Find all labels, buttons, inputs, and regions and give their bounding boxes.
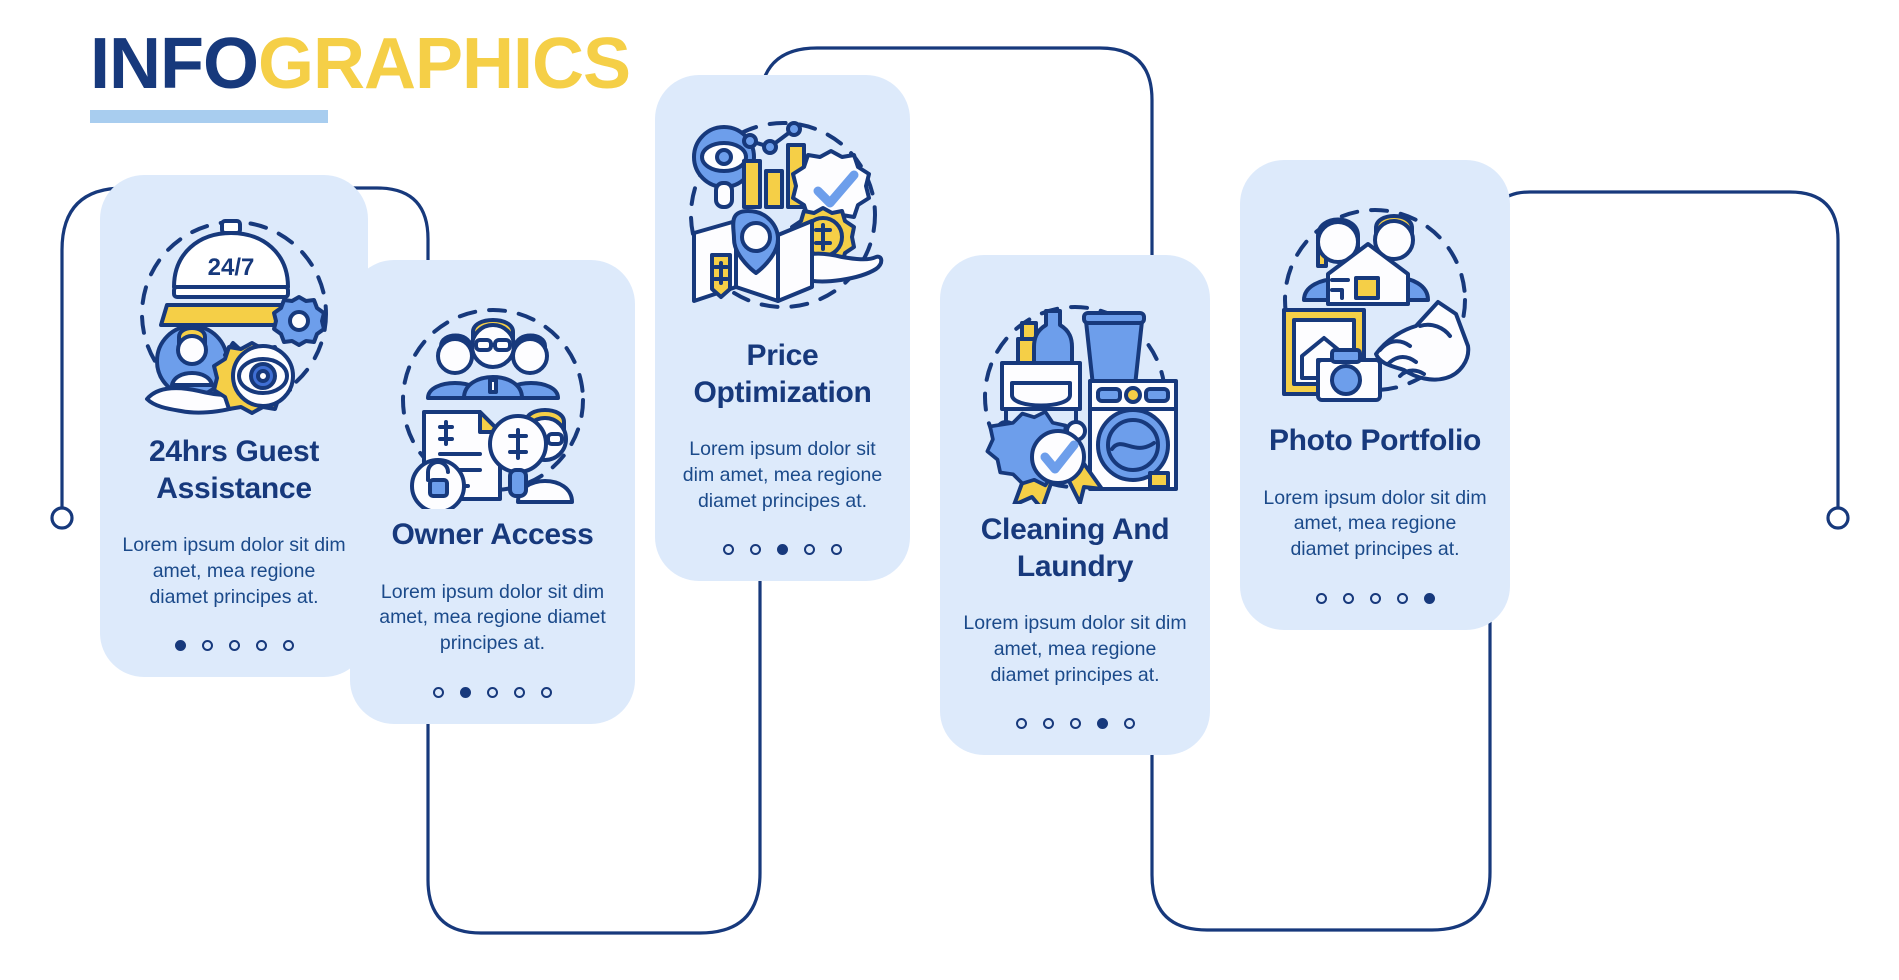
card-body-text: Lorem ipsum dolor sit dim amet, mea regi… — [677, 437, 888, 514]
title-underline-rule — [90, 110, 328, 123]
connector-endpoint-left — [52, 508, 72, 528]
step-dot-4[interactable] — [804, 544, 815, 555]
card-title: Photo Portfolio — [1269, 423, 1481, 460]
step-dot-3[interactable] — [229, 640, 240, 651]
card-body-text: Lorem ipsum dolor sit dim amet, mea regi… — [377, 580, 609, 657]
card-title: Price Optimization — [677, 338, 888, 411]
step-card-photo-portfolio[interactable]: Photo Portfolio Lorem ipsum dolor sit di… — [1240, 160, 1510, 630]
photo-couple-handshake-icon — [1270, 194, 1480, 409]
step-dot-4[interactable] — [256, 640, 267, 651]
step-dot-5[interactable] — [1124, 718, 1135, 729]
infographic-canvas: INFOGRAPHICS 24/7 — [0, 0, 1899, 980]
step-dot-3[interactable] — [1070, 718, 1081, 729]
step-dot-2[interactable] — [202, 640, 213, 651]
step-dot-4[interactable] — [1097, 718, 1108, 729]
step-dot-4[interactable] — [514, 687, 525, 698]
step-dot-5[interactable] — [283, 640, 294, 651]
step-dot-2[interactable] — [460, 687, 471, 698]
cleaning-cart-washer-badge-icon — [970, 289, 1180, 504]
card-title: Cleaning And Laundry — [962, 512, 1188, 585]
step-dot-3[interactable] — [1370, 593, 1381, 604]
step-indicator-dots[interactable] — [1316, 593, 1435, 604]
step-indicator-dots[interactable] — [175, 640, 294, 651]
step-card-cleaning-and-laundry[interactable]: Cleaning And Laundry Lorem ipsum dolor s… — [940, 255, 1210, 755]
step-dot-2[interactable] — [1043, 718, 1054, 729]
title-part-primary: INFO — [90, 24, 258, 104]
service-bell-support-icon: 24/7 — [129, 209, 339, 424]
step-dot-5[interactable] — [831, 544, 842, 555]
step-dot-5[interactable] — [541, 687, 552, 698]
step-card-price-optimization[interactable]: Price Optimization Lorem ipsum dolor sit… — [655, 75, 910, 581]
step-dot-2[interactable] — [750, 544, 761, 555]
step-dot-3[interactable] — [777, 544, 788, 555]
step-dot-1[interactable] — [1316, 593, 1327, 604]
step-dot-4[interactable] — [1397, 593, 1408, 604]
card-title: 24hrs Guest Assistance — [122, 434, 346, 507]
step-card-owner-access[interactable]: Owner Access Lorem ipsum dolor sit dim a… — [350, 260, 635, 724]
header: INFOGRAPHICS — [90, 28, 630, 123]
step-dot-1[interactable] — [723, 544, 734, 555]
svg-text:24/7: 24/7 — [208, 254, 255, 281]
card-body-text: Lorem ipsum dolor sit dim amet, mea regi… — [122, 533, 346, 610]
step-dot-1[interactable] — [175, 640, 186, 651]
step-dot-1[interactable] — [1016, 718, 1027, 729]
card-body-text: Lorem ipsum dolor sit dim amet, mea regi… — [962, 611, 1188, 688]
price-analytics-map-icon — [678, 109, 888, 324]
step-dot-1[interactable] — [433, 687, 444, 698]
step-card-24hrs-guest-assistance[interactable]: 24/7 — [100, 175, 368, 677]
step-dot-5[interactable] — [1424, 593, 1435, 604]
title-part-accent: GRAPHICS — [258, 24, 630, 104]
page-title: INFOGRAPHICS — [90, 28, 630, 100]
step-dot-2[interactable] — [1343, 593, 1354, 604]
card-body-text: Lorem ipsum dolor sit dim amet, mea regi… — [1262, 486, 1488, 563]
step-indicator-dots[interactable] — [1016, 718, 1135, 729]
owner-team-document-lock-icon — [388, 294, 598, 509]
step-dot-3[interactable] — [487, 687, 498, 698]
connector-endpoint-right — [1828, 508, 1848, 528]
card-title: Owner Access — [391, 517, 593, 554]
step-indicator-dots[interactable] — [433, 687, 552, 698]
step-indicator-dots[interactable] — [723, 544, 842, 555]
